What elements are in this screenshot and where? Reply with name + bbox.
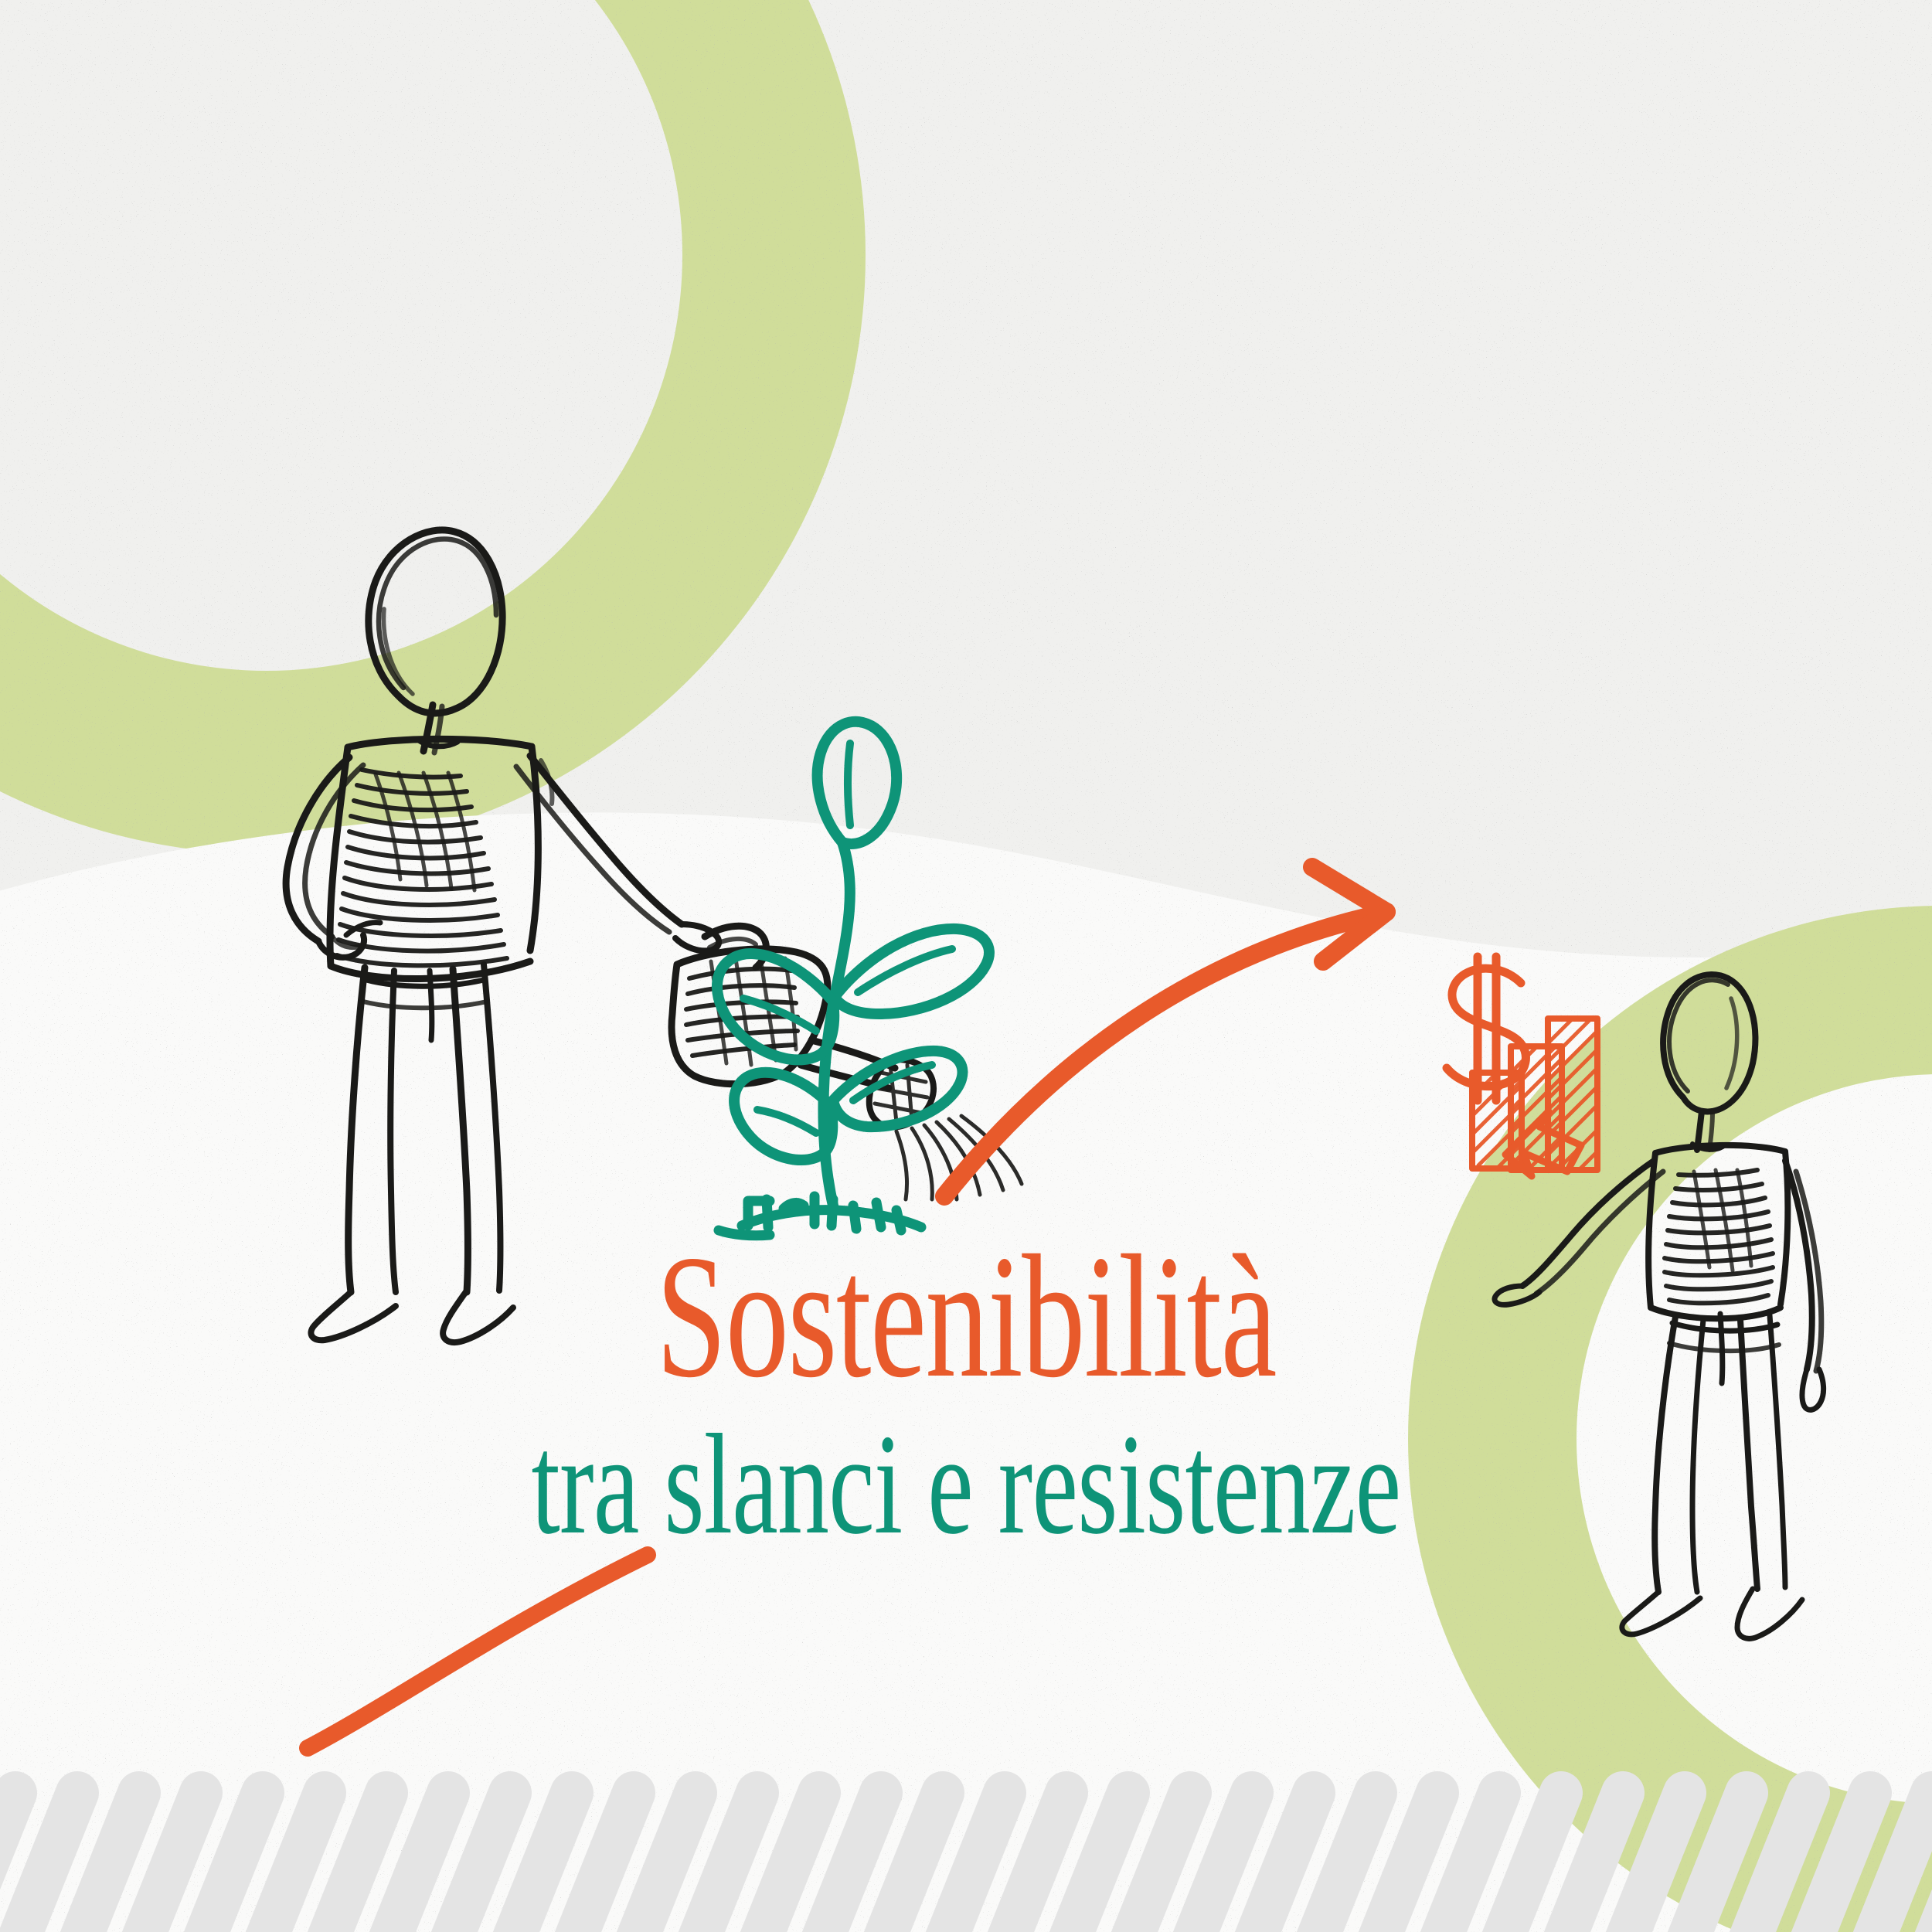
chart-bar-3 <box>1548 1019 1597 1170</box>
figure2-torso <box>1648 1145 1787 1318</box>
swoosh-line <box>308 1555 648 1748</box>
figure-legs <box>311 964 513 1342</box>
figure2-right-arm <box>1785 1161 1824 1410</box>
figure-right-arm <box>516 756 719 951</box>
soil-tuft-icon <box>719 1196 921 1236</box>
figure-head-icon <box>369 530 502 713</box>
dollar-sign-icon <box>1447 957 1526 1100</box>
bar-chart-icon <box>1447 957 1597 1176</box>
person-watering <box>286 530 719 1342</box>
growth-arrow <box>944 867 1386 1196</box>
figure2-legs <box>1622 1314 1802 1638</box>
poster-canvas: Sostenibilità tra slanci e resistenze <box>0 0 1932 1932</box>
illustration-layer <box>0 0 1932 1932</box>
figure2-left-arm <box>1495 1161 1663 1304</box>
figure2-head-icon <box>1663 975 1755 1111</box>
plant-sprout <box>717 722 989 1236</box>
